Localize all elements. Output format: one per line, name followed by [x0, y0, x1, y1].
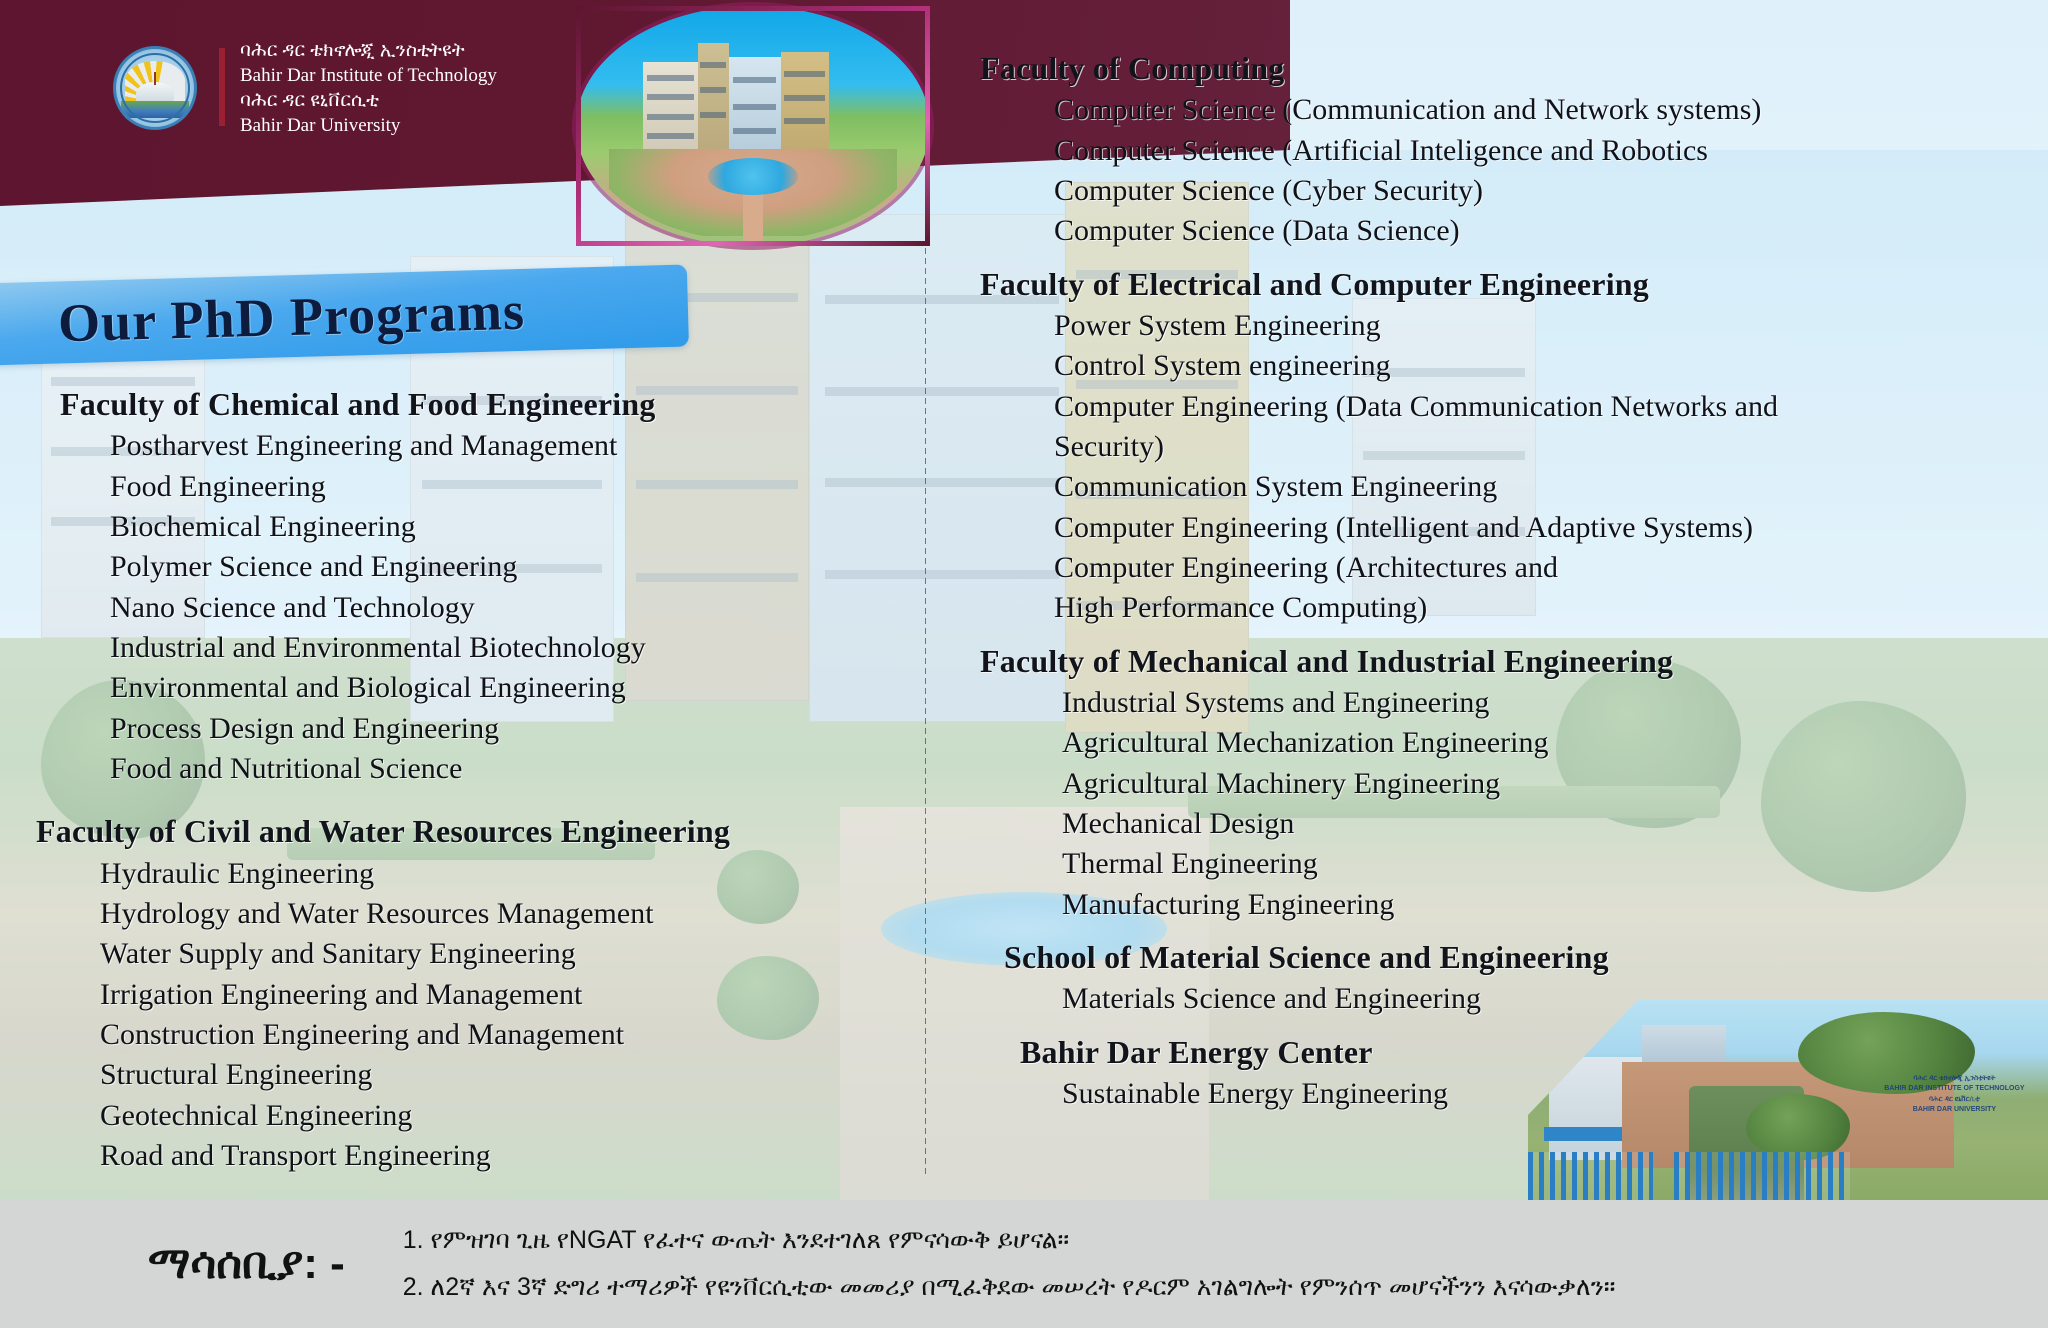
footer-notice-bar: ማሳሰቢያ: - 1. የምዝገባ ጊዜ የNGAT የፈተና ውጤት እንደተ…	[0, 1200, 2048, 1328]
program-item: Thermal Engineering	[980, 844, 2030, 884]
institution-identity: ባሕር ዳር ቴክኖሎጂ ኢንስቲትዩት Bahir Dar Institute…	[240, 38, 497, 138]
faculty-heading: Faculty of Mechanical and Industrial Eng…	[980, 641, 2030, 681]
faculty-heading: School of Material Science and Engineeri…	[980, 937, 2030, 977]
institute-name-amharic: ባሕር ዳር ቴክኖሎጂ ኢንስቲትዩት	[240, 38, 497, 63]
page-title: Our PhD Programs	[57, 280, 525, 355]
gate-photo-fence	[1528, 1152, 1653, 1205]
program-item: Control System engineering	[980, 346, 2030, 386]
program-item: Geotechnical Engineering	[36, 1096, 916, 1136]
program-item: Mechanical Design	[980, 804, 2030, 844]
faculty-heading: Faculty of Computing	[980, 48, 2030, 88]
program-item: Computer Engineering (Data Communication…	[980, 387, 2030, 468]
program-list: Industrial Systems and EngineeringAgricu…	[980, 683, 2030, 925]
university-name-english: Bahir Dar University	[240, 113, 497, 138]
program-item: Biochemical Engineering	[36, 507, 916, 547]
program-list: Computer Science (Communication and Netw…	[980, 90, 2030, 251]
program-item: Construction Engineering and Management	[36, 1015, 916, 1055]
program-item: Agricultural Mechanization Engineering	[980, 723, 2030, 763]
program-item: Hydrology and Water Resources Management	[36, 894, 916, 934]
program-item: Road and Transport Engineering	[36, 1136, 916, 1176]
program-item: Communication System Engineering	[980, 467, 2030, 507]
university-seal-icon	[113, 46, 197, 130]
program-item: Structural Engineering	[36, 1055, 916, 1095]
program-item: Computer Science (Communication and Netw…	[980, 90, 2030, 130]
photo-main-building	[729, 57, 781, 158]
program-item: Computer Engineering (Architectures and …	[980, 548, 2030, 629]
program-item: Hydraulic Engineering	[36, 854, 916, 894]
program-item: Postharvest Engineering and Management	[36, 426, 916, 466]
program-list: Hydraulic EngineeringHydrology and Water…	[36, 854, 916, 1177]
program-item: Process Design and Engineering	[36, 709, 916, 749]
program-list: Power System EngineeringControl System e…	[980, 306, 2030, 629]
program-item: Environmental and Biological Engineering	[36, 668, 916, 708]
program-item: Polymer Science and Engineering	[36, 547, 916, 587]
right-program-column: Faculty of ComputingComputer Science (Co…	[980, 48, 2030, 1126]
phd-programs-poster: ባሕር ዳር ቴክኖሎጂ ኢንስቲትዩት Bahir Dar Institute…	[0, 0, 2048, 1328]
footer-notice-list: 1. የምዝገባ ጊዜ የNGAT የፈተና ውጤት እንደተገለጸ የምናሳው…	[403, 1226, 1616, 1302]
program-item: Computer Engineering (Intelligent and Ad…	[980, 508, 2030, 548]
footer-notice-line: 1. የምዝገባ ጊዜ የNGAT የፈተና ውጤት እንደተገለጸ የምናሳው…	[403, 1226, 1616, 1255]
photo-building-right	[781, 52, 829, 158]
program-item: Agricultural Machinery Engineering	[980, 764, 2030, 804]
photo-fountain	[708, 158, 797, 195]
footer-label: ማሳሰቢያ: -	[148, 1239, 345, 1289]
program-list: Materials Science and Engineering	[980, 979, 2030, 1019]
logo-divider-bar	[219, 48, 225, 126]
program-item: Water Supply and Sanitary Engineering	[36, 934, 916, 974]
program-item: Industrial Systems and Engineering	[980, 683, 2030, 723]
university-name-amharic: ባሕር ዳር ዩኒቨርሲቲ	[240, 88, 497, 113]
faculty-heading: Faculty of Electrical and Computer Engin…	[980, 264, 2030, 304]
photo-building-left	[643, 62, 698, 159]
program-item: Computer Science (Cyber Security)	[980, 171, 2030, 211]
program-list: Sustainable Energy Engineering	[980, 1074, 2030, 1114]
faculty-heading: Faculty of Chemical and Food Engineering	[36, 384, 916, 424]
program-item: Manufacturing Engineering	[980, 885, 2030, 925]
program-item: Industrial and Environmental Biotechnolo…	[36, 628, 916, 668]
left-program-column: Faculty of Chemical and Food Engineering…	[36, 384, 916, 1198]
program-list: Postharvest Engineering and ManagementFo…	[36, 426, 916, 789]
faculty-heading: Faculty of Civil and Water Resources Eng…	[36, 811, 916, 851]
gate-photo-fence	[1674, 1152, 1851, 1205]
program-item: Nano Science and Technology	[36, 588, 916, 628]
column-divider	[925, 58, 926, 1178]
program-item: Power System Engineering	[980, 306, 2030, 346]
program-item: Food Engineering	[36, 467, 916, 507]
faculty-heading: Bahir Dar Energy Center	[980, 1032, 2030, 1072]
program-item: Materials Science and Engineering	[980, 979, 2030, 1019]
program-item: Sustainable Energy Engineering	[980, 1074, 2030, 1114]
photo-tower	[698, 43, 729, 158]
program-item: Computer Science (Data Science)	[980, 211, 2030, 251]
footer-notice-line: 2. ለ2ኛ እና 3ኛ ድግሪ ተማሪዎች የዩንቨርሲቲው መመሪያ በሚፈ…	[403, 1273, 1616, 1302]
program-item: Irrigation Engineering and Management	[36, 975, 916, 1015]
program-item: Food and Nutritional Science	[36, 749, 916, 789]
institute-name-english: Bahir Dar Institute of Technology	[240, 63, 497, 88]
campus-aerial-photo	[576, 6, 930, 246]
program-item: Computer Science (Artificial Inteligence…	[980, 131, 2030, 171]
